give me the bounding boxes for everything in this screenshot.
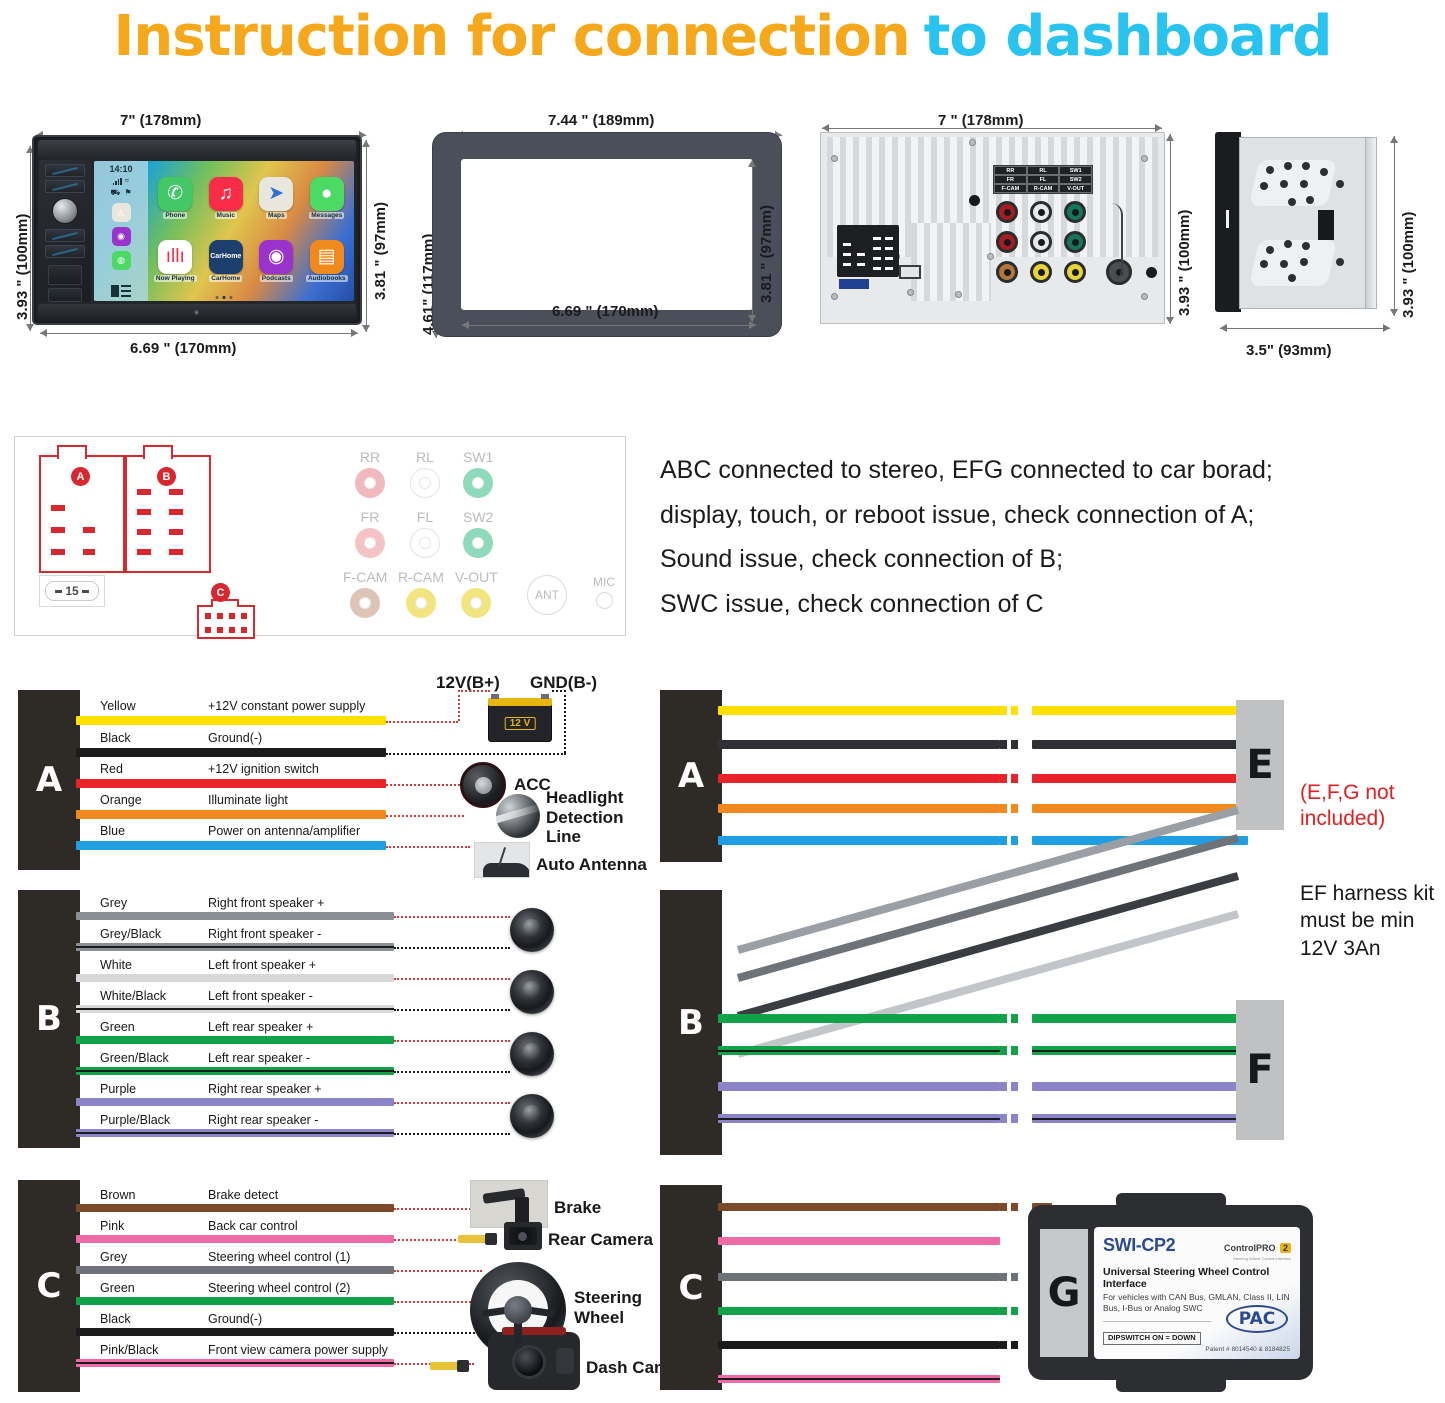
module-brand: ControlPRO	[1224, 1243, 1276, 1253]
signal-bars-icon	[113, 178, 122, 185]
wire-desc-label: Illuminate light	[208, 793, 288, 807]
app-carhome[interactable]: CarHome CarHome	[203, 230, 250, 291]
carplay-status-row-2: ⛟ ⚑	[110, 188, 131, 198]
wire-purple-black-dots	[394, 1133, 510, 1135]
wire-desc-label: +12V ignition switch	[208, 762, 319, 776]
wire-gap-dots	[1000, 740, 1018, 749]
rca-jack-sw1[interactable]	[1064, 201, 1086, 223]
fuse-rating: 15	[65, 584, 78, 598]
connector-a-block: A	[18, 690, 80, 870]
wire-gap-dots	[1000, 1114, 1018, 1123]
module-heading: Universal Steering Wheel Control Interfa…	[1103, 1266, 1291, 1290]
heatsink-fins-lower	[911, 223, 991, 301]
frame-opening	[461, 159, 753, 310]
battery-icon: 12 V	[488, 702, 552, 742]
rca-jack-sw2[interactable]	[1064, 231, 1086, 253]
jack-ring	[406, 588, 436, 618]
harness-b-diagram: B Grey Right front speaker + Grey/Black …	[18, 890, 638, 1150]
right-wire-orange	[718, 804, 1000, 813]
right-wire-red	[718, 774, 1000, 783]
right-wire-purple	[718, 1082, 1000, 1091]
rear-iso-connector[interactable]	[837, 225, 899, 277]
sidebar-podcasts-icon[interactable]: ◉	[112, 227, 131, 246]
antenna-wire-loop	[1111, 203, 1123, 281]
car-stereo-side-view	[1215, 132, 1390, 312]
crossing-wires-b-to-e	[660, 830, 1290, 1010]
info-line-3: Sound issue, check connection of B;	[660, 537, 1440, 582]
wire-color-label: Green/Black	[100, 1051, 169, 1065]
wire-grey	[76, 912, 394, 920]
side-slot	[1318, 210, 1334, 240]
podcasts-icon: ◉	[259, 240, 293, 274]
jack-label: RR	[360, 449, 380, 465]
side-width-arrow	[1220, 328, 1390, 329]
info-line-1: ABC connected to stereo, EFG connected t…	[660, 448, 1440, 493]
right-wire-green	[718, 1014, 1000, 1023]
wire-brown	[76, 1204, 394, 1212]
label-fcam: F-CAM	[994, 184, 1027, 193]
wire-gap-dots	[1000, 1341, 1018, 1349]
rear-camera-label: Rear Camera	[548, 1230, 653, 1250]
wire-gap-dots	[1000, 1046, 1018, 1055]
car-icon: ⛟	[110, 188, 120, 198]
info-line-4: SWC issue, check connection of C	[660, 582, 1440, 627]
rear-hole	[969, 195, 980, 206]
wire-color-label: White/Black	[100, 989, 166, 1003]
wire-white-black	[76, 1005, 394, 1013]
wire-desc-label: Steering wheel control (1)	[208, 1250, 350, 1264]
rear-camera-plug-icon	[458, 1235, 488, 1243]
connector-b-badge: B	[157, 467, 176, 486]
module-dipswitch: DIPSWITCH ON = DOWN	[1103, 1332, 1201, 1345]
right-wire-black-2	[1032, 740, 1248, 749]
carplay-clock: 14:10	[109, 165, 132, 174]
wire-black-dots	[386, 753, 566, 755]
wire-desc-label: Left front speaker -	[208, 989, 313, 1003]
connector-a-badge: A	[71, 467, 90, 486]
wire-desc-label: Front view camera power supply	[208, 1343, 388, 1357]
rca-jack-rr[interactable]	[996, 201, 1018, 223]
wire-purple	[76, 1098, 394, 1106]
app-podcasts[interactable]: ◉ Podcasts	[253, 230, 300, 291]
side-front-bezel	[1215, 132, 1241, 312]
jack-label: FL	[417, 509, 433, 525]
rca-jack-vout[interactable]	[1064, 261, 1086, 283]
label-grid-row: F-CAM R-CAM V-OUT	[994, 184, 1092, 193]
connector-a-notch	[57, 445, 87, 459]
battery-neg-vert	[564, 690, 566, 753]
label-sw1: SW1	[1059, 166, 1092, 175]
wire-grey-c-dots	[394, 1270, 482, 1272]
pac-logo: PAC	[1226, 1305, 1288, 1333]
wire-desc-label: +12V constant power supply	[208, 699, 365, 713]
wire-color-label: Grey	[100, 896, 127, 910]
sidebar-messages-icon[interactable]: ◍	[112, 251, 131, 270]
app-label: Phone	[163, 212, 187, 219]
battery-pos-dots	[458, 690, 490, 692]
right-wire-green-2	[1032, 1014, 1248, 1023]
connector-f-block: F	[1236, 1000, 1284, 1140]
label-grid-row: RR RL SW1	[994, 166, 1092, 175]
right-wire-purple-black	[718, 1114, 1000, 1123]
app-label: Maps	[266, 212, 287, 219]
front-bottom-strip: ◉	[38, 304, 356, 320]
screw-icon	[1141, 155, 1148, 162]
ignition-switch-icon	[460, 762, 506, 808]
mic-socket[interactable]: MIC	[593, 575, 615, 609]
dash-cam-label: Dash Cam	[586, 1358, 669, 1378]
module-patent: Patent # 8014540 & 8184825	[1205, 1346, 1290, 1353]
wire-yellow-dots	[386, 721, 458, 723]
back-height-label: 3.93 " (100mm)	[1176, 210, 1193, 316]
wire-color-label: Grey	[100, 1250, 127, 1264]
page-dots	[216, 296, 233, 299]
frame-outer-width-label: 7.44 " (189mm)	[548, 112, 654, 129]
back-width-label: 7 " (178mm)	[938, 112, 1023, 129]
wire-pink	[76, 1235, 394, 1243]
right-wire-pink	[718, 1237, 1000, 1245]
rca-jack-fcam[interactable]	[996, 261, 1018, 283]
fuse-body: 15	[45, 581, 98, 601]
jack-fr[interactable]: FR	[355, 509, 385, 558]
wire-gap-dots	[1000, 1307, 1018, 1315]
jack-vout[interactable]: V-OUT	[455, 569, 498, 618]
wire-color-label: Green	[100, 1281, 135, 1295]
wire-desc-label: Steering wheel control (2)	[208, 1281, 350, 1295]
jack-rl[interactable]: RL	[410, 449, 440, 498]
jack-label: SW2	[463, 509, 493, 525]
sidebar-list-icon[interactable]	[111, 285, 131, 297]
wire-green-dots	[394, 1040, 510, 1042]
jack-ring	[410, 528, 440, 558]
screw-icon	[987, 253, 994, 260]
wire-gap-dots	[1000, 804, 1018, 813]
app-music[interactable]: ♫ Music	[203, 167, 250, 228]
volume-knob[interactable]	[52, 198, 78, 224]
wire-desc-label: Left front speaker +	[208, 958, 316, 972]
car-stereo-rear-view: RR RL SW1 FR FL SW2 F-CAM R-CAM V-OUT	[820, 132, 1165, 324]
carhome-icon: CarHome	[209, 240, 243, 274]
front-screen-height-label: 3.81 " (97mm)	[372, 202, 389, 300]
wire-desc-label: Right rear speaker -	[208, 1113, 318, 1127]
side-button-1[interactable]	[45, 164, 85, 177]
sidebar-maps-icon[interactable]: ◬	[112, 203, 131, 222]
back-width-arrow	[822, 128, 1162, 129]
wire-green	[76, 1036, 394, 1044]
app-audiobooks[interactable]: ▤ Audiobooks	[304, 230, 351, 291]
right-wire-orange-2	[1032, 804, 1248, 813]
connector-panel-diagram: A B 15 C RR RL SW1 FR	[14, 436, 626, 636]
wifi-icon: ≈	[125, 177, 129, 185]
title-part-1: Instruction for connection	[114, 4, 910, 69]
swi-cp2-module: G SWI-CP2 ControlPRO 2 Steering Wheel Co…	[1028, 1205, 1313, 1380]
wire-desc-label: Ground(-)	[208, 731, 262, 745]
right-wire-green-black-2	[1032, 1046, 1248, 1055]
side-button-3[interactable]	[45, 229, 85, 242]
alert-icon: ⚑	[124, 188, 131, 198]
wire-green-c	[76, 1297, 394, 1305]
dash-cam-icon	[488, 1332, 580, 1390]
book-icon: ▤	[310, 240, 344, 274]
jack-label: V-OUT	[455, 569, 498, 585]
jack-ring	[461, 588, 491, 618]
rca-jack-rcam[interactable]	[1030, 261, 1052, 283]
screw-icon	[955, 291, 962, 298]
jack-label: SW1	[463, 449, 493, 465]
frame-inner-height-arrow	[752, 160, 753, 322]
wire-purple-black	[76, 1129, 394, 1137]
label-fr: FR	[994, 175, 1027, 184]
right-wire-red-2	[1032, 774, 1248, 783]
app-phone[interactable]: ✆ Phone	[152, 167, 199, 228]
app-label: Now Playing	[154, 275, 197, 282]
title-part-2: to dashboard	[924, 4, 1332, 69]
wire-blue-dots	[386, 846, 470, 848]
wire-desc-label: Power on antenna/amplifier	[208, 824, 360, 838]
rear-camera-icon	[504, 1222, 542, 1250]
right-wire-yellow	[718, 706, 1000, 715]
right-connector-b-block: B	[660, 890, 722, 1155]
side-chassis	[1239, 137, 1367, 309]
car-stereo-front-view: ◉ 14:10 ≈ ⛟	[32, 135, 362, 325]
module-label: SWI-CP2 ControlPRO 2 Steering Wheel Cont…	[1094, 1227, 1300, 1359]
wire-color-label: White	[100, 958, 132, 972]
front-screen-width-label: 6.69 " (170mm)	[130, 340, 236, 357]
front-side-control-panel	[39, 160, 91, 302]
wire-grey-black-dots	[394, 947, 510, 949]
wire-desc-label: Right rear speaker +	[208, 1082, 322, 1096]
product-views-section: 7" (178mm) 3.93 " (100mm) ◉ 14:10	[0, 90, 1445, 390]
module-model: SWI-CP2	[1103, 1235, 1175, 1256]
jack-rcam[interactable]: R-CAM	[398, 569, 444, 618]
jack-ring	[350, 588, 380, 618]
side-button-4[interactable]	[45, 245, 85, 258]
wire-gap-dots	[1000, 1203, 1018, 1211]
connector-c-badge: C	[211, 583, 230, 602]
jack-ring	[410, 468, 440, 498]
wire-color-label: Purple	[100, 1082, 136, 1096]
wire-black-c-dots	[394, 1332, 482, 1334]
wire-green-black	[76, 1067, 394, 1075]
screw-icon	[831, 293, 838, 300]
app-label: Music	[215, 212, 237, 219]
headlight-icon	[496, 794, 540, 838]
app-label: Messages	[309, 212, 344, 219]
front-screen-width-arrow	[40, 333, 358, 334]
right-wire-yellow-2	[1032, 706, 1248, 715]
wire-desc-label: Ground(-)	[208, 1312, 262, 1326]
app-now-playing[interactable]: ıllı Now Playing	[152, 230, 199, 291]
headlight-label: HeadlightDetectionLine	[546, 788, 623, 847]
auto-antenna-label: Auto Antenna	[536, 855, 647, 875]
right-wire-green-black	[718, 1046, 1000, 1055]
usb-slot[interactable]	[48, 265, 82, 285]
rca-jack-fl[interactable]	[1030, 231, 1052, 253]
wire-color-label: Orange	[100, 793, 142, 807]
note-not-included: (E,F,G not included)	[1300, 780, 1445, 833]
label-grid-row: FR FL SW2	[994, 175, 1092, 184]
app-label: CarHome	[209, 275, 242, 282]
module-brand-sub: Steering Wheel Control Interface	[1224, 1256, 1291, 1261]
connector-b-notch	[143, 445, 173, 459]
wire-orange-dots	[386, 815, 464, 817]
carplay-app-grid: ✆ Phone ♫ Music ➤ Maps ● Messages	[152, 167, 350, 291]
wire-color-label: Pink/Black	[100, 1343, 158, 1357]
connector-c-outline[interactable]	[197, 605, 255, 639]
side-button-2[interactable]	[45, 180, 85, 193]
screw-icon	[1141, 293, 1148, 300]
wire-desc-label: Back car control	[208, 1219, 298, 1233]
wire-color-label: Brown	[100, 1188, 135, 1202]
wire-white-black-dots	[394, 1009, 510, 1011]
wire-color-label: Red	[100, 762, 123, 776]
antenna-label: ANT	[535, 588, 559, 602]
phone-icon: ✆	[158, 177, 192, 211]
wire-color-label: Yellow	[100, 699, 136, 713]
speaker-icon	[510, 908, 554, 952]
steering-wheel-label: SteeringWheel	[574, 1288, 642, 1327]
right-wire-purple-black-2	[1032, 1114, 1248, 1123]
frame-inner-width-label: 6.69 " (170mm)	[552, 303, 658, 320]
right-harness-b-to-f: B	[660, 1000, 1260, 1160]
connector-b-block: B	[18, 890, 80, 1148]
app-messages[interactable]: ● Messages	[304, 167, 351, 228]
carplay-screen[interactable]: 14:10 ≈ ⛟ ⚑ ◬ ◉ ◍	[94, 161, 354, 301]
side-height-label: 3.93 " (100mm)	[1400, 212, 1417, 318]
jack-ring	[463, 528, 493, 558]
jack-sw2[interactable]: SW2	[463, 509, 493, 558]
sd-slot[interactable]	[48, 288, 82, 302]
screw-icon	[831, 155, 838, 162]
screw-icon	[907, 289, 914, 296]
side-width-label: 3.5" (93mm)	[1246, 342, 1331, 359]
rear-mic-hole[interactable]	[1146, 267, 1157, 278]
right-wire-green-c	[718, 1307, 1000, 1315]
brake-label: Brake	[554, 1198, 601, 1218]
wire-color-label: Pink	[100, 1219, 124, 1233]
wire-grey-dots	[394, 916, 510, 918]
module-brand-badge: 2	[1280, 1243, 1291, 1253]
back-height-arrow	[1170, 134, 1171, 324]
connector-c-block: C	[18, 1180, 80, 1392]
rear-jack-label-grid: RR RL SW1 FR FL SW2 F-CAM R-CAM V-OUT	[993, 165, 1093, 194]
connector-e-block: E	[1236, 700, 1284, 830]
front-top-strip	[38, 140, 356, 158]
wire-color-label: Green	[100, 1020, 135, 1034]
troubleshooting-text: ABC connected to stereo, EFG connected t…	[660, 448, 1440, 626]
rear-blue-connector[interactable]	[839, 279, 869, 289]
wire-black	[76, 748, 386, 757]
right-wire-pink-black	[718, 1375, 1000, 1383]
app-label: Podcasts	[260, 275, 293, 282]
wire-desc-label: Left rear speaker +	[208, 1020, 313, 1034]
wire-desc-label: Right front speaker +	[208, 896, 324, 910]
jack-rr[interactable]: RR	[355, 449, 385, 498]
right-wire-grey	[718, 1273, 1000, 1281]
wire-color-label: Grey/Black	[100, 927, 161, 941]
wire-color-label: Black	[100, 731, 131, 745]
side-mounting-rail	[1365, 137, 1377, 309]
front-outer-width-label: 7" (178mm)	[120, 112, 201, 129]
maps-icon: ➤	[259, 177, 293, 211]
wire-red-dots	[386, 784, 460, 786]
carplay-status-row: ≈	[113, 177, 129, 185]
wire-desc-label: Brake detect	[208, 1188, 278, 1202]
module-mount-tab-bottom	[1116, 1376, 1226, 1392]
jack-label: FR	[361, 509, 380, 525]
jack-label: F-CAM	[343, 569, 387, 585]
frame-inner-height-label: 3.81 " (97mm)	[758, 205, 775, 303]
battery-voltage-tag: 12 V	[505, 717, 536, 730]
right-wire-purple-2	[1032, 1082, 1248, 1091]
jack-ring	[463, 468, 493, 498]
jack-label: R-CAM	[398, 569, 444, 585]
rear-small-connector[interactable]	[899, 265, 921, 279]
fuse-holder[interactable]: 15	[39, 575, 105, 607]
info-line-2: display, touch, or reboot issue, check c…	[660, 493, 1440, 538]
music-note-icon: ♫	[209, 177, 243, 211]
wire-brown-dots	[394, 1208, 474, 1210]
jack-fcam[interactable]: F-CAM	[343, 569, 387, 618]
note-harness-kit: EF harness kit must be min 12V 3An	[1300, 880, 1445, 962]
wire-color-label: Black	[100, 1312, 131, 1326]
screw-icon	[969, 139, 976, 146]
wire-red	[76, 779, 386, 788]
wire-gap-dots	[1000, 1082, 1018, 1091]
wire-purple-dots	[394, 1102, 510, 1104]
label-rr: RR	[994, 166, 1027, 175]
wire-grey-c	[76, 1266, 394, 1274]
app-maps[interactable]: ➤ Maps	[253, 167, 300, 228]
speaker-icon	[510, 970, 554, 1014]
rca-jack-fr[interactable]	[996, 231, 1018, 253]
wire-color-label: Purple/Black	[100, 1113, 170, 1127]
front-screen-height-arrow	[366, 140, 367, 332]
carplay-sidebar: 14:10 ≈ ⛟ ⚑ ◬ ◉ ◍	[94, 161, 148, 301]
jack-ring	[355, 528, 385, 558]
label-sw2: SW2	[1059, 175, 1092, 184]
wire-green-c-dots	[394, 1301, 482, 1303]
antenna-socket[interactable]: ANT	[527, 575, 567, 615]
speaker-icon	[510, 1032, 554, 1076]
wire-orange	[76, 810, 386, 819]
jack-label: RL	[416, 449, 434, 465]
right-wire-brown	[718, 1203, 1000, 1211]
connector-g-block: G	[1040, 1229, 1088, 1357]
speaker-icon	[510, 1094, 554, 1138]
app-label: Audiobooks	[306, 275, 348, 282]
jack-fl[interactable]: FL	[410, 509, 440, 558]
wire-desc-label: Left rear speaker -	[208, 1051, 310, 1065]
wire-gap-dots	[1000, 1014, 1018, 1023]
jack-sw1[interactable]: SW1	[463, 449, 493, 498]
frame-inner-width-arrow	[462, 325, 756, 326]
side-height-arrow	[1394, 136, 1395, 316]
message-bubble-icon: ●	[310, 177, 344, 211]
module-mount-tab-top	[1116, 1193, 1226, 1209]
wire-gap-dots	[1000, 774, 1018, 783]
mic-circle-icon	[596, 592, 613, 609]
wire-pink-dots	[394, 1239, 460, 1241]
antenna-icon	[474, 842, 530, 878]
dash-cam-plug-icon	[430, 1362, 460, 1370]
battery-neg-dots	[552, 690, 566, 692]
rear-rca-jacks	[996, 201, 1088, 289]
rca-jack-rl[interactable]	[1030, 201, 1052, 223]
wire-white-dots	[394, 978, 510, 980]
harness-a-diagram: A Yellow +12V constant power supply Blac…	[18, 690, 638, 875]
harness-c-diagram: C Brown Brake detect Pink Back car contr…	[18, 1180, 638, 1395]
